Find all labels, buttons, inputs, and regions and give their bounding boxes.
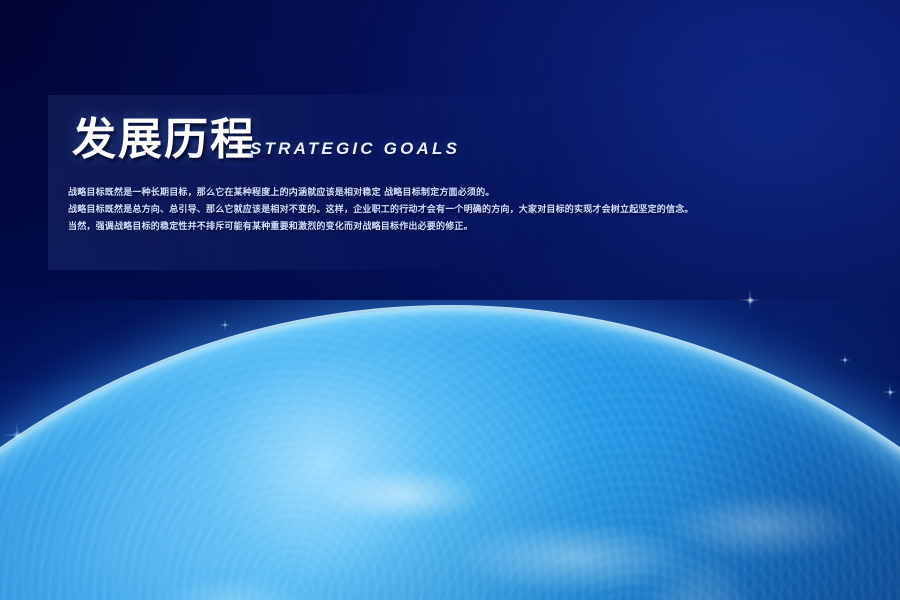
body-paragraph: 当然，强调战略目标的稳定性并不排斥可能有某种重要和激烈的变化而对战略目标作出必要… (68, 222, 768, 233)
page-subtitle: STRATEGIC GOALS (250, 139, 460, 162)
earth-globe (0, 308, 900, 600)
body-paragraph: 战略目标既然是总方向、总引导、那么它就应该是相对不变的。这样，企业职工的行动才会… (68, 205, 768, 216)
banner-stage: 发展历程 STRATEGIC GOALS 战略目标既然是一种长期目标，那么它在某… (0, 0, 900, 600)
body-paragraph: 战略目标既然是一种长期目标，那么它在某种程度上的内涵就应该是相对稳定 战略目标制… (68, 188, 768, 199)
earth-scene (0, 300, 900, 600)
banner-body-copy: 战略目标既然是一种长期目标，那么它在某种程度上的内涵就应该是相对稳定 战略目标制… (68, 188, 768, 239)
page-title: 发展历程 (72, 118, 256, 162)
earth-atmosphere-rim (0, 305, 900, 600)
banner-heading: 发展历程 STRATEGIC GOALS (72, 118, 460, 162)
